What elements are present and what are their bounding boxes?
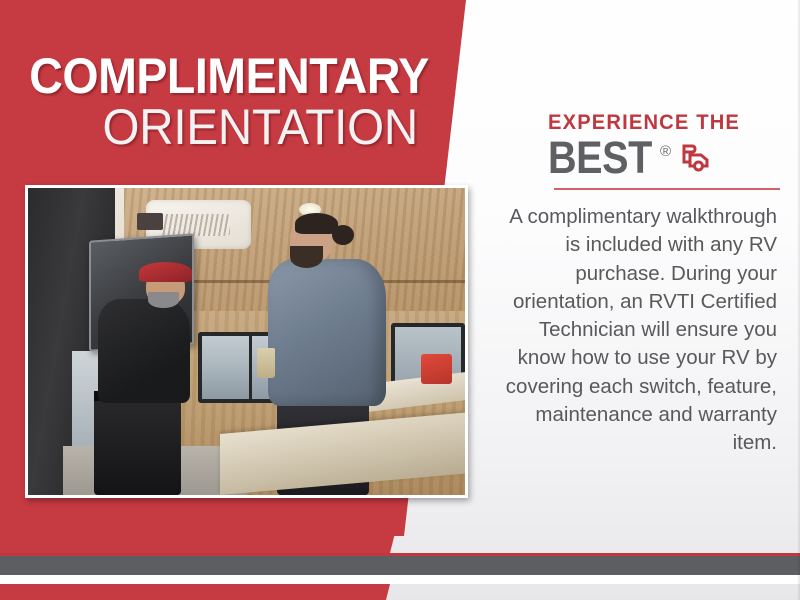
headline-line-1: COMPLIMENTARY: [29, 52, 418, 101]
logo-wordmark: BEST: [548, 138, 652, 179]
rv-motorhome-icon: [679, 142, 713, 176]
photo-cup: [257, 348, 274, 379]
footer-white-gap: [0, 575, 800, 584]
page-title: COMPLIMENTARY ORIENTATION: [0, 52, 440, 154]
photo-technician-torso: [98, 299, 190, 403]
logo-divider-rule: [554, 188, 780, 190]
footer-red-band-top: [0, 525, 400, 553]
slide-canvas: COMPLIMENTARY ORIENTATION: [0, 0, 800, 600]
photo-technician-beard: [148, 292, 179, 307]
photo-red-object: [421, 354, 452, 385]
photo-customer-beard: [290, 246, 323, 267]
photo-technician-cap: [139, 262, 191, 282]
footer-gray-band: [0, 556, 800, 575]
headline-line-2: ORIENTATION: [21, 101, 418, 154]
photo-customer-jacket: [268, 259, 386, 406]
body-copy: A complimentary walkthrough is included …: [500, 203, 785, 458]
photo-wall-outlet: [137, 213, 163, 230]
registered-trademark-icon: ®: [660, 143, 671, 160]
photo-customer-hair-bun: [332, 225, 354, 245]
orientation-photo: [25, 185, 468, 498]
logo-tagline: EXPERIENCE THE: [548, 112, 778, 133]
experience-the-best-logo: EXPERIENCE THE BEST ®: [548, 112, 788, 190]
footer-red-band-bottom: [0, 584, 400, 600]
photo-technician-legs: [94, 391, 181, 495]
logo-wordmark-row: BEST ®: [548, 134, 788, 178]
rv-interior-photo-scene: [28, 188, 465, 495]
